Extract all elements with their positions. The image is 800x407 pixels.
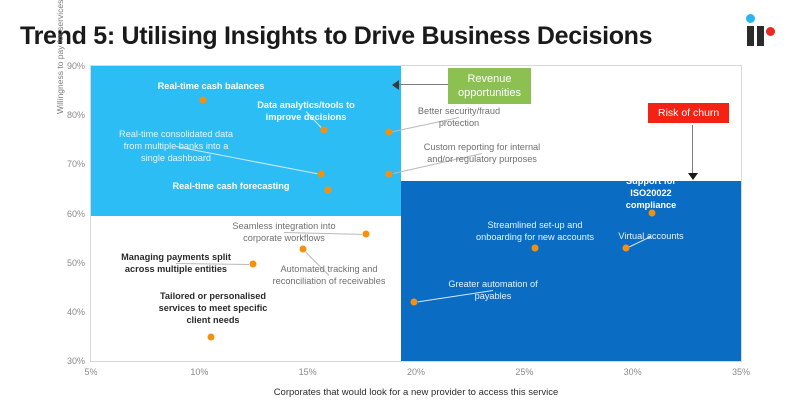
y-axis-tick: 50% <box>67 258 85 268</box>
x-axis-tick: 5% <box>84 367 97 377</box>
data-point-label: Streamlined set-up and onboarding for ne… <box>476 219 594 243</box>
y-axis-tick: 60% <box>67 209 85 219</box>
y-axis-tick: 30% <box>67 356 85 366</box>
data-point-label: Virtual accounts <box>618 230 683 242</box>
logo-left-bar-icon <box>747 26 754 46</box>
data-point[interactable] <box>386 129 393 136</box>
x-axis-tick: 20% <box>407 367 425 377</box>
data-point[interactable] <box>250 261 257 268</box>
data-point-label: Real-time cash balances <box>158 80 265 92</box>
x-axis-title: Corporates that would look for a new pro… <box>91 387 741 398</box>
data-point[interactable] <box>200 97 207 104</box>
revenue-opportunities-callout: Revenue opportunities <box>448 68 531 104</box>
data-point-label: Seamless integration into corporate work… <box>232 220 335 244</box>
data-point-label: Support for ISO20022 compliance <box>606 175 696 211</box>
x-axis-tick: 30% <box>624 367 642 377</box>
data-point-label: Real-time cash forecasting <box>173 180 290 192</box>
data-point-label: Managing payments split across multiple … <box>121 251 231 275</box>
x-axis-tick: 10% <box>190 367 208 377</box>
page-title: Trend 5: Utilising Insights to Drive Bus… <box>20 22 652 51</box>
y-axis-tick: 80% <box>67 110 85 120</box>
x-axis-tick: 35% <box>732 367 750 377</box>
x-axis-tick: 15% <box>299 367 317 377</box>
logo-right-bar-icon <box>757 26 764 46</box>
y-axis-tick: 90% <box>67 61 85 71</box>
risk-callout-arrow-line <box>692 125 693 175</box>
data-point-label: Tailored or personalised services to mee… <box>159 290 268 326</box>
revenue-callout-arrow-head-icon <box>392 80 399 90</box>
data-point[interactable] <box>623 245 630 252</box>
scatter-plot: Willingness to pay for services - top th… <box>90 65 742 362</box>
revenue-callout-arrow-line <box>397 84 449 85</box>
data-point-label: Better security/fraud protection <box>418 105 500 129</box>
risk-callout-arrow-head-icon <box>688 173 698 180</box>
risk-of-churn-callout: Risk of churn <box>648 103 729 123</box>
data-point-label: Automated tracking and reconciliation of… <box>273 263 386 287</box>
y-axis-tick: 70% <box>67 159 85 169</box>
y-axis-tick: 40% <box>67 307 85 317</box>
brand-logo <box>742 14 778 48</box>
logo-red-dot-icon <box>766 27 775 36</box>
y-axis-title: Willingness to pay for services - top th… <box>55 0 65 114</box>
data-point[interactable] <box>318 171 325 178</box>
data-point[interactable] <box>325 187 332 194</box>
logo-blue-dot-icon <box>746 14 755 23</box>
data-point-label: Greater automation of payables <box>448 278 537 302</box>
data-point[interactable] <box>208 334 215 341</box>
data-point-label: Real-time consolidated data from multipl… <box>119 128 233 164</box>
data-point-label: Data analytics/tools to improve decision… <box>257 99 355 123</box>
data-point-label: Custom reporting for internal and/or reg… <box>424 141 540 165</box>
data-point[interactable] <box>411 299 418 306</box>
data-point[interactable] <box>386 171 393 178</box>
data-point[interactable] <box>300 246 307 253</box>
data-point[interactable] <box>363 231 370 238</box>
x-axis-tick: 25% <box>515 367 533 377</box>
data-point[interactable] <box>532 245 539 252</box>
data-point[interactable] <box>321 127 328 134</box>
